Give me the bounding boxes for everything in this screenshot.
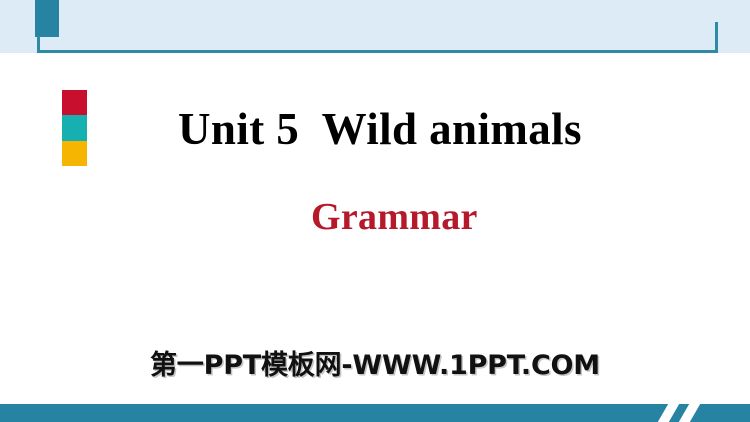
amber-block <box>62 141 87 166</box>
page-title: Unit 5 Wild animals <box>178 103 582 155</box>
color-block-stack <box>62 90 87 166</box>
header-rule-horizontal <box>37 50 718 53</box>
header-band <box>0 0 750 53</box>
page-subtitle: Grammar <box>311 195 478 239</box>
teal-block <box>62 115 87 140</box>
red-block <box>62 90 87 115</box>
watermark-text: 第一PPT模板网-WWW.1PPT.COM <box>0 350 750 382</box>
header-rule-right-vertical <box>715 22 718 53</box>
header-accent-tab <box>35 0 59 37</box>
footer-bar <box>0 404 750 422</box>
presentation-slide: Unit 5 Wild animals Grammar 第一PPT模板网-WWW… <box>0 0 750 422</box>
footer-slash-icon <box>676 404 702 422</box>
footer-slash-icon <box>655 404 681 422</box>
